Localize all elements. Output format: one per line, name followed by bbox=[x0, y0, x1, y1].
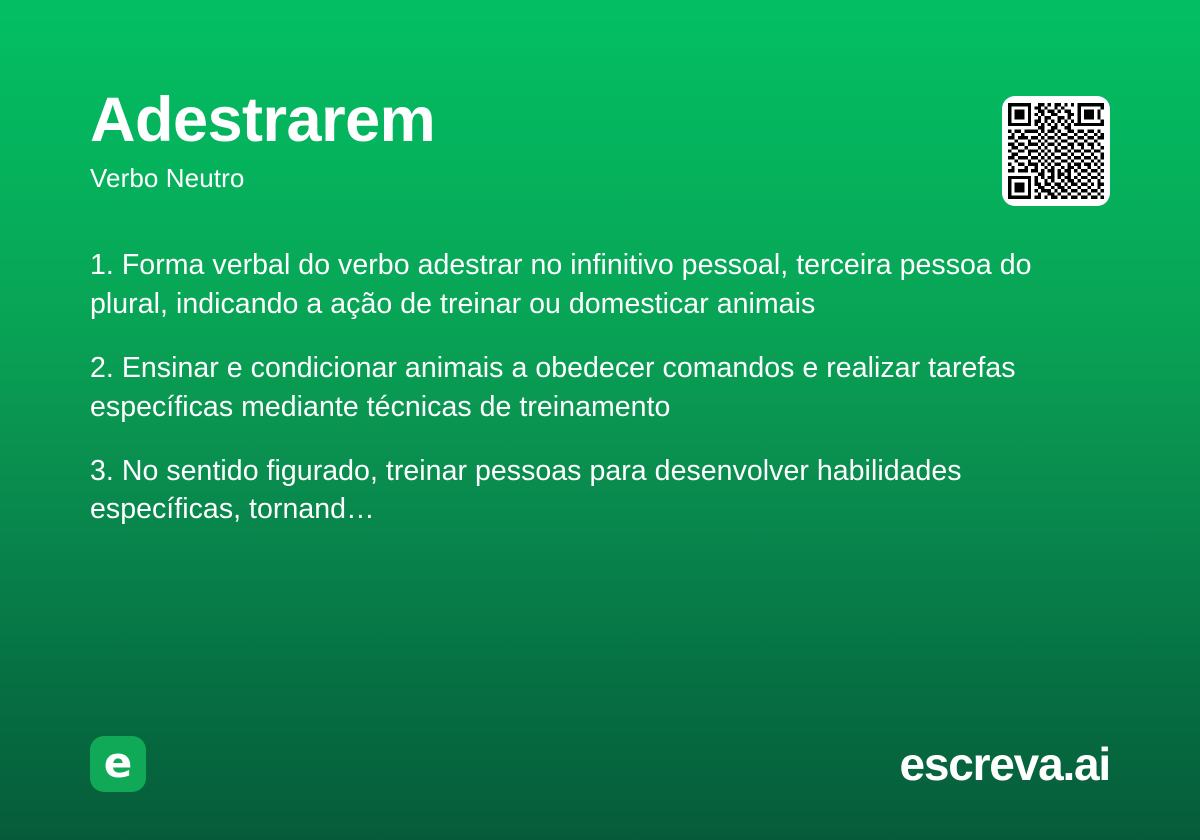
qr-code-icon bbox=[1008, 102, 1104, 200]
definition-card: Adestrarem Verbo Neutro 1. Forma verbal … bbox=[0, 0, 1200, 840]
card-footer: e escreva.ai bbox=[90, 736, 1110, 792]
brand-wordmark: escreva.ai bbox=[899, 741, 1110, 787]
word-class-subtitle: Verbo Neutro bbox=[90, 164, 1110, 193]
definition-item: 2. Ensinar e condicionar animais a obede… bbox=[90, 349, 1104, 427]
definition-item: 1. Forma verbal do verbo adestrar no inf… bbox=[90, 246, 1104, 324]
definition-item: 3. No sentido figurado, treinar pessoas … bbox=[90, 452, 1104, 530]
logo-letter: e bbox=[104, 742, 133, 784]
definitions-list: 1. Forma verbal do verbo adestrar no inf… bbox=[90, 246, 1104, 529]
qr-code-card[interactable] bbox=[1002, 96, 1110, 206]
page-title: Adestrarem bbox=[90, 88, 1110, 152]
escreva-logo-icon[interactable]: e bbox=[90, 736, 146, 792]
card-header: Adestrarem Verbo Neutro bbox=[90, 88, 1110, 218]
